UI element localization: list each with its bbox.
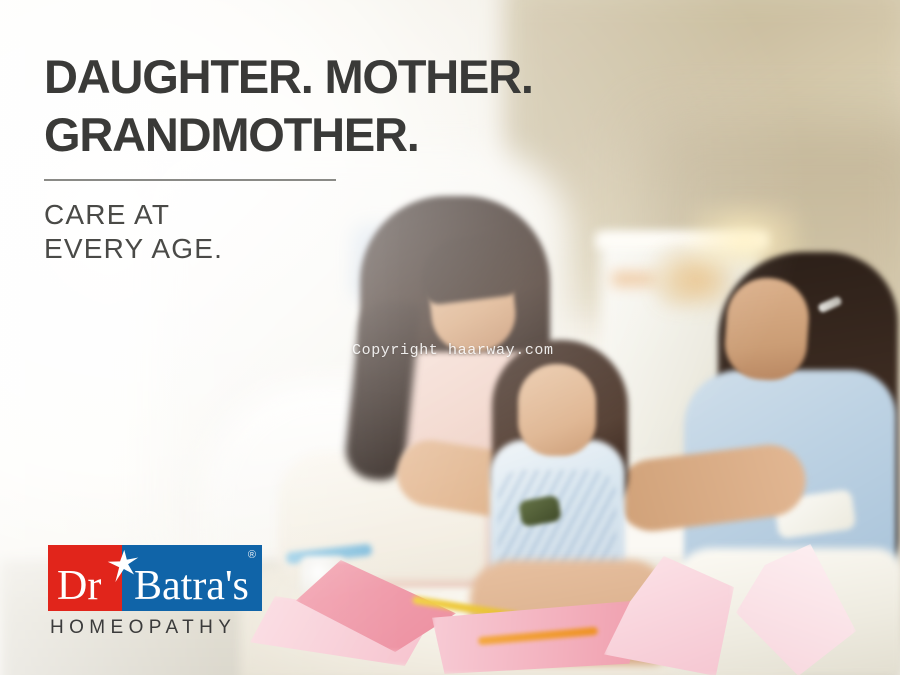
copyright-watermark: Copyright haarway.com: [352, 342, 554, 359]
logo-dr-text: Dr: [48, 565, 101, 611]
brand-logo[interactable]: Dr Batra's ® HOMEOPATHY: [48, 545, 264, 639]
logo-blue-panel: Batra's: [122, 545, 262, 611]
subline-line-1: CARE AT: [44, 198, 664, 232]
logo-tagline: HOMEOPATHY: [48, 617, 264, 639]
advertisement-banner: DAUGHTER. MOTHER. GRANDMOTHER. CARE AT E…: [0, 0, 900, 675]
headline-block: DAUGHTER. MOTHER. GRANDMOTHER. CARE AT E…: [44, 48, 664, 266]
daughter-face: [518, 364, 596, 456]
headline-line-2: GRANDMOTHER.: [44, 106, 664, 164]
subline-line-2: EVERY AGE.: [44, 232, 664, 266]
grandmother-face: [723, 275, 812, 382]
headline-line-1: DAUGHTER. MOTHER.: [44, 48, 664, 106]
star-icon: [106, 549, 140, 583]
logo-colour-block: Dr Batra's ®: [48, 545, 262, 611]
headline-divider: [44, 179, 336, 181]
logo-batra-text: Batra's: [122, 565, 249, 611]
registered-trademark-icon: ®: [248, 549, 256, 561]
